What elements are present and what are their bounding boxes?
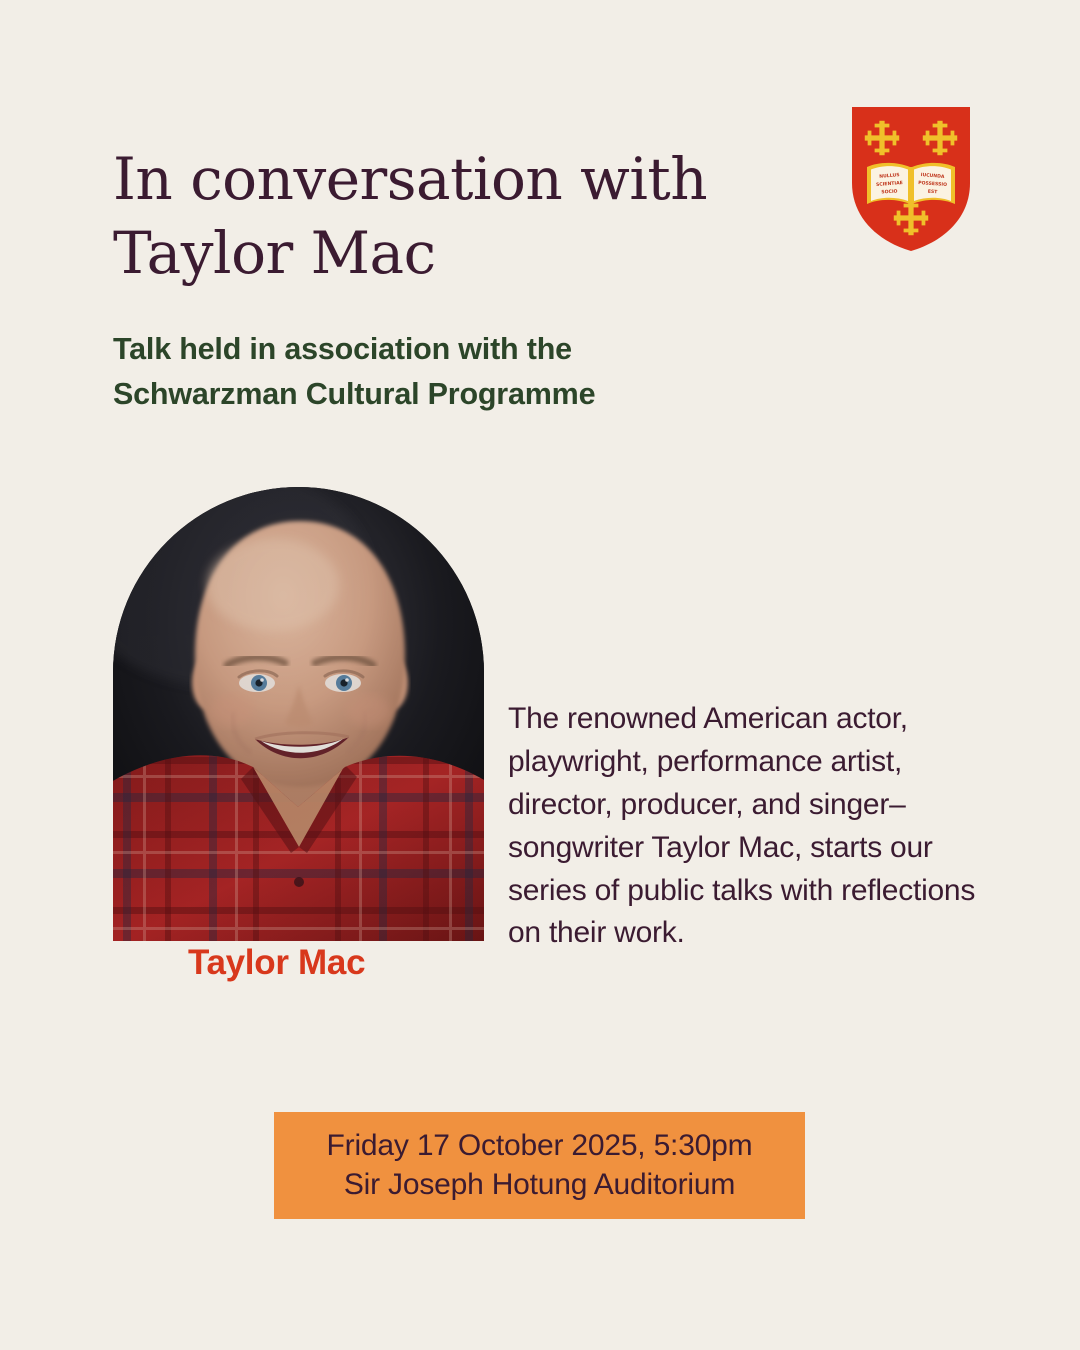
soas-crest-icon: NULLUS SCIENTIAE SOCIO IUCUNDA POSSESSIO… bbox=[850, 105, 972, 253]
portrait-caption: Taylor Mac bbox=[188, 943, 365, 983]
svg-text:SOCIO: SOCIO bbox=[881, 189, 898, 196]
svg-text:EST: EST bbox=[928, 189, 939, 196]
portrait-image bbox=[113, 487, 484, 941]
description-text: The renowned American actor, playwright,… bbox=[508, 698, 978, 955]
event-datetime: Friday 17 October 2025, 5:30pm bbox=[327, 1127, 753, 1165]
event-details-box: Friday 17 October 2025, 5:30pm Sir Josep… bbox=[274, 1112, 805, 1219]
portrait bbox=[113, 487, 484, 941]
page-title: In conversation with Taylor Mac bbox=[113, 142, 753, 290]
event-venue: Sir Joseph Hotung Auditorium bbox=[344, 1166, 735, 1204]
subtitle: Talk held in association with the Schwar… bbox=[113, 327, 773, 417]
event-poster: In conversation with Taylor Mac bbox=[0, 0, 1080, 1350]
